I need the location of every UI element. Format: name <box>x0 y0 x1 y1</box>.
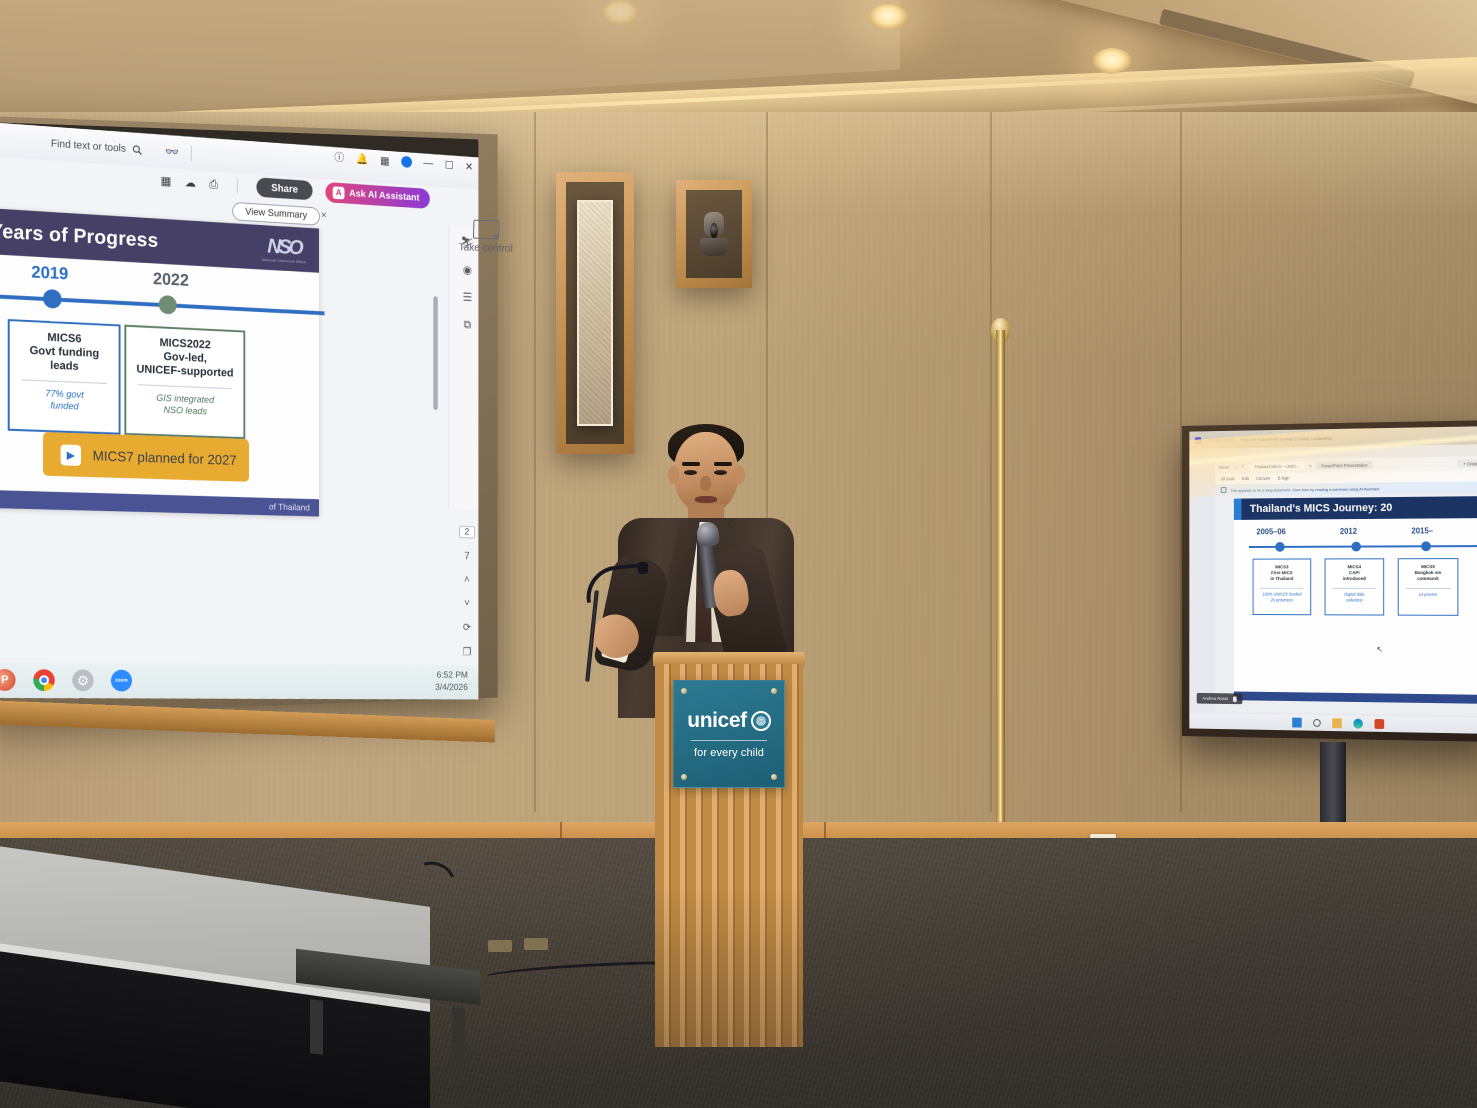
step-leg <box>310 999 323 1055</box>
un-globe-emblem <box>751 711 771 731</box>
tv-slide-accent-bar <box>1234 499 1241 520</box>
tv-card-divider <box>1406 587 1451 588</box>
find-input[interactable]: Find text or tools <box>51 138 142 156</box>
tv-menu-edit[interactable]: Edit <box>1242 476 1249 481</box>
bookmark-star-icon[interactable]: ☆ <box>1241 464 1245 470</box>
tv-tab-close-icon[interactable]: × <box>1309 463 1311 468</box>
fit-page-icon[interactable]: ❐ <box>463 646 472 658</box>
tv-card-divider <box>1332 587 1376 588</box>
edge-icon[interactable] <box>1353 719 1363 729</box>
timeline-card-note: 77% govtfunded <box>16 387 113 414</box>
presenter-ear <box>668 466 679 484</box>
ask-ai-assistant-button[interactable]: A Ask AI Assistant <box>326 182 431 209</box>
tv-slide-title-bar: Thailand's MICS Journey: 20 <box>1234 495 1477 519</box>
lock-icon <box>1195 437 1201 444</box>
card-divider <box>22 379 108 384</box>
slide-title: 20 Years of Progress <box>0 218 158 252</box>
unicef-sign: unicef for every child <box>673 680 785 788</box>
tv-card-divider <box>1260 587 1303 588</box>
search-icon <box>132 144 143 156</box>
tv-timeline-years: 2005–06 2012 2015– <box>1234 526 1477 544</box>
speaker-grille <box>577 200 613 425</box>
tv-menu-all-tools[interactable]: All tools <box>1221 476 1235 481</box>
wall-panel-seam <box>990 112 992 812</box>
share-button[interactable]: Share <box>256 177 312 200</box>
acrobat-window: Find text or tools 👓 ⓘ 🔔 ▦ <box>0 122 478 699</box>
tv-timeline-year: 2012 <box>1340 527 1357 536</box>
rotate-icon[interactable]: ⟳ <box>463 621 471 633</box>
tv-tab-thailand-mics[interactable]: Thailand MICS – UNIC... <box>1249 462 1304 471</box>
play-icon: ▶ <box>61 444 81 465</box>
tv-tab-powerpoint[interactable]: PowerPoint Presentation <box>1316 461 1372 470</box>
tv-card-title: MICS5Bangkok smcommunit <box>1402 564 1455 582</box>
timeline-dot <box>159 295 177 315</box>
taskbar-clock[interactable]: 6:52 PM 3/4/2026 <box>435 670 468 694</box>
chrome-icon[interactable] <box>33 669 54 691</box>
unicef-tagline: for every child <box>694 747 764 759</box>
find-placeholder: Find text or tools <box>51 138 126 155</box>
tv-menu-button[interactable]: Menu <box>1219 464 1229 469</box>
tv-timeline-dot <box>1421 541 1431 551</box>
conference-room-photo: Find text or tools 👓 ⓘ 🔔 ▦ <box>0 0 1477 1108</box>
tv-timeline-cards: MICS3First MICSin Thailand 100% UNICEF f… <box>1234 558 1477 559</box>
tv-timeline-card: MICS3First MICSin Thailand 100% UNICEF f… <box>1253 559 1312 616</box>
tv-slide-footer: National Statistical Office <box>1234 691 1477 704</box>
home-icon[interactable]: ⌂ <box>1234 464 1236 469</box>
tv-timeline-card: MICS4CAPIintroduced Digital datacollecti… <box>1325 558 1385 615</box>
floor-power-port <box>524 938 548 950</box>
mics7-label: MICS7 planned for 2027 <box>93 448 237 468</box>
restore-button[interactable]: ☐ <box>445 158 454 171</box>
nso-logo: NSO National Statistical Office <box>258 231 310 269</box>
upload-cloud-icon[interactable]: ☁ <box>185 175 196 189</box>
timeline-card-title: MICS2022Gov-led,UNICEF-supported <box>132 335 238 381</box>
tv-slide-canvas: Thailand's MICS Journey: 20 2005–06 2012… <box>1234 495 1477 704</box>
tv-card-note: 100% UNICEF funded26 provinces <box>1256 592 1307 603</box>
presenter-mouth <box>695 496 717 503</box>
powerpoint-icon[interactable] <box>0 669 16 691</box>
tv-timeline-dot <box>1275 542 1284 552</box>
tv-slide-title: Thailand's MICS Journey: 20 <box>1250 502 1392 515</box>
bell-icon[interactable]: 🔔 <box>356 152 368 165</box>
take-control-label: Take control <box>459 242 513 254</box>
mics7-banner: ▶ MICS7 planned for 2027 <box>43 432 249 482</box>
tv-card-note: 14 provinc <box>1402 592 1455 597</box>
page-down-icon[interactable]: ˅ <box>464 598 470 609</box>
tv-address-text: UNICEF MICS — National Household Survey … <box>1206 435 1332 442</box>
timeline-card-note: GIS integratedNSO leads <box>132 392 238 419</box>
powerpoint-icon[interactable] <box>1374 719 1384 729</box>
window-system-icons: ⓘ 🔔 ▦ — ☐ ✕ <box>334 149 473 174</box>
tv-card-title: MICS4CAPIintroduced <box>1328 564 1380 582</box>
floor-power-port <box>488 940 512 952</box>
sign-divider-rule <box>691 740 767 741</box>
tv-timeline-year: 2005–06 <box>1256 527 1285 536</box>
presenter-nose <box>700 476 711 491</box>
vertical-scrollbar[interactable] <box>433 296 437 410</box>
print-icon[interactable]: ⎙ <box>209 177 218 192</box>
acrobat-right-rail: ⛷ ◉ ☰ ⧉ <box>448 225 478 509</box>
tv-timeline-year: 2015– <box>1411 526 1433 535</box>
slide-canvas: 20 Years of Progress NSO National Statis… <box>0 205 319 517</box>
settings-gear-icon[interactable] <box>72 669 93 691</box>
tv-menu-convert[interactable]: Convert <box>1256 476 1270 481</box>
screen-surface: Find text or tools 👓 ⓘ 🔔 ▦ <box>0 122 478 699</box>
ceiling-downlight <box>868 4 908 30</box>
windows-taskbar: 6:52 PM 3/4/2026 <box>0 662 478 700</box>
participant-name-badge: Andrea Rossi <box>1197 693 1242 704</box>
gooseneck-mic-capsule <box>638 562 648 574</box>
ceiling-slab <box>0 0 900 120</box>
timeline-card: MICS6Govt fundingleads 77% govtfunded <box>8 319 121 435</box>
tv-ai-summary-banner[interactable]: This appears to be a long document. Save… <box>1215 481 1477 496</box>
speaker-mesh <box>579 202 611 423</box>
file-explorer-icon[interactable] <box>1332 718 1342 728</box>
sign-screw <box>681 688 687 694</box>
tv-card-title: MICS3First MICSin Thailand <box>1256 564 1307 582</box>
card-divider <box>138 384 232 389</box>
ceiling-downlight <box>600 0 640 26</box>
close-button[interactable]: ✕ <box>465 160 473 173</box>
unicef-brand-text: unicef <box>687 709 746 733</box>
tv-timeline-card: MICS5Bangkok smcommunit 14 provinc <box>1398 558 1459 616</box>
sign-screw <box>681 774 687 780</box>
projection-screen: Find text or tools 👓 ⓘ 🔔 ▦ <box>0 116 498 716</box>
timeline-year: 2019 <box>31 262 68 284</box>
tv-browser-address-bar[interactable]: UNICEF MICS — National Household Survey … <box>1189 426 1477 449</box>
timeline-cards: MICS5Bangkok smallcommunities 14 provinc… <box>0 316 319 335</box>
clock-time: 6:52 PM <box>435 670 468 682</box>
speaker-recess <box>566 182 624 444</box>
presenter-ear <box>734 466 745 484</box>
tv-timeline: 2005–06 2012 2015– MICS3First MICSin Tha… <box>1234 526 1477 544</box>
tv-screen: UNICEF MICS — National Household Survey … <box>1189 426 1477 734</box>
page-up-icon[interactable]: ˄ <box>464 574 470 585</box>
presenter-eyebrow <box>714 462 732 466</box>
search-icon[interactable] <box>1313 719 1321 727</box>
presenter-eye <box>714 470 727 475</box>
unicef-podium: unicef for every child <box>655 652 803 1047</box>
sign-screw <box>771 688 777 694</box>
minimize-button[interactable]: — <box>424 157 434 169</box>
current-page-input[interactable]: 2 <box>459 526 474 539</box>
total-pages-label: 7 <box>464 550 469 561</box>
mouse-cursor: ↖ <box>1376 645 1382 654</box>
clock-date: 3/4/2026 <box>435 682 468 694</box>
ask-ai-label: Ask AI Assistant <box>349 188 419 203</box>
slide-footer: of Thailand <box>0 489 319 517</box>
camera-body <box>698 212 729 256</box>
tv-windows-taskbar <box>1189 713 1477 734</box>
help-icon[interactable]: ⓘ <box>334 149 344 165</box>
take-control-overlay[interactable]: Take control <box>440 219 533 255</box>
organize-pages-icon[interactable]: ⧉ <box>464 318 472 333</box>
tv-ai-banner-text: This appears to be a long document. Save… <box>1230 486 1380 493</box>
camera-recess <box>686 190 742 278</box>
ptz-conference-camera <box>676 180 752 288</box>
tv-timeline-dot <box>1351 542 1361 552</box>
zoom-icon[interactable] <box>111 670 132 692</box>
tv-menu-esign[interactable]: E-Sign <box>1278 476 1290 481</box>
save-icon[interactable]: ▦ <box>161 174 172 188</box>
step-leg <box>452 1007 465 1063</box>
participant-name: Andrea Rossi <box>1202 696 1228 701</box>
timeline-card-title: MICS6Govt fundingleads <box>16 329 113 375</box>
ai-sparkle-icon: A <box>333 186 345 199</box>
nso-logo-mark: NSO <box>267 235 301 260</box>
mic-stand-pole <box>996 330 1005 870</box>
screen-share-cursor-icon <box>473 220 499 240</box>
read-aloud-glasses-icon[interactable]: 👓 <box>165 145 179 160</box>
mic-muted-icon <box>1233 696 1237 702</box>
sign-screw <box>771 774 777 780</box>
toolbar-divider <box>191 146 192 162</box>
summary-close-icon[interactable]: × <box>321 210 327 222</box>
presenter-eye <box>684 470 697 475</box>
avatar[interactable] <box>401 156 412 168</box>
ceiling-downlight <box>1092 48 1132 74</box>
wall-panel-seam <box>534 112 536 812</box>
toolbar-divider <box>237 178 238 194</box>
tv-shared-window: Menu ⌂ ☆ Thailand MICS – UNIC... × Power… <box>1215 456 1477 716</box>
wall-speaker-panel <box>556 172 634 454</box>
presenter-eyebrow <box>682 462 700 466</box>
start-icon[interactable] <box>1292 718 1301 728</box>
tv-new-tab-button[interactable]: + Create <box>1457 459 1477 467</box>
view-eye-icon[interactable]: ◉ <box>463 263 472 277</box>
bookmark-icon[interactable]: ☰ <box>463 290 472 304</box>
ai-assistant-icon <box>1221 487 1227 493</box>
tv-card-note: Digital datacollection <box>1328 592 1380 603</box>
wall-tv-monitor: UNICEF MICS — National Household Survey … <box>1182 420 1477 742</box>
timeline-year: 2022 <box>153 269 189 291</box>
screen-bezel: Find text or tools 👓 ⓘ 🔔 ▦ <box>0 122 478 698</box>
timeline-card: MICS2022Gov-led,UNICEF-supported GIS int… <box>124 325 245 439</box>
unicef-wordmark: unicef <box>687 709 770 733</box>
camera-mount <box>700 238 728 256</box>
apps-grid-icon[interactable]: ▦ <box>380 154 389 167</box>
timeline-dot <box>43 289 62 309</box>
camera-lens <box>710 223 718 238</box>
